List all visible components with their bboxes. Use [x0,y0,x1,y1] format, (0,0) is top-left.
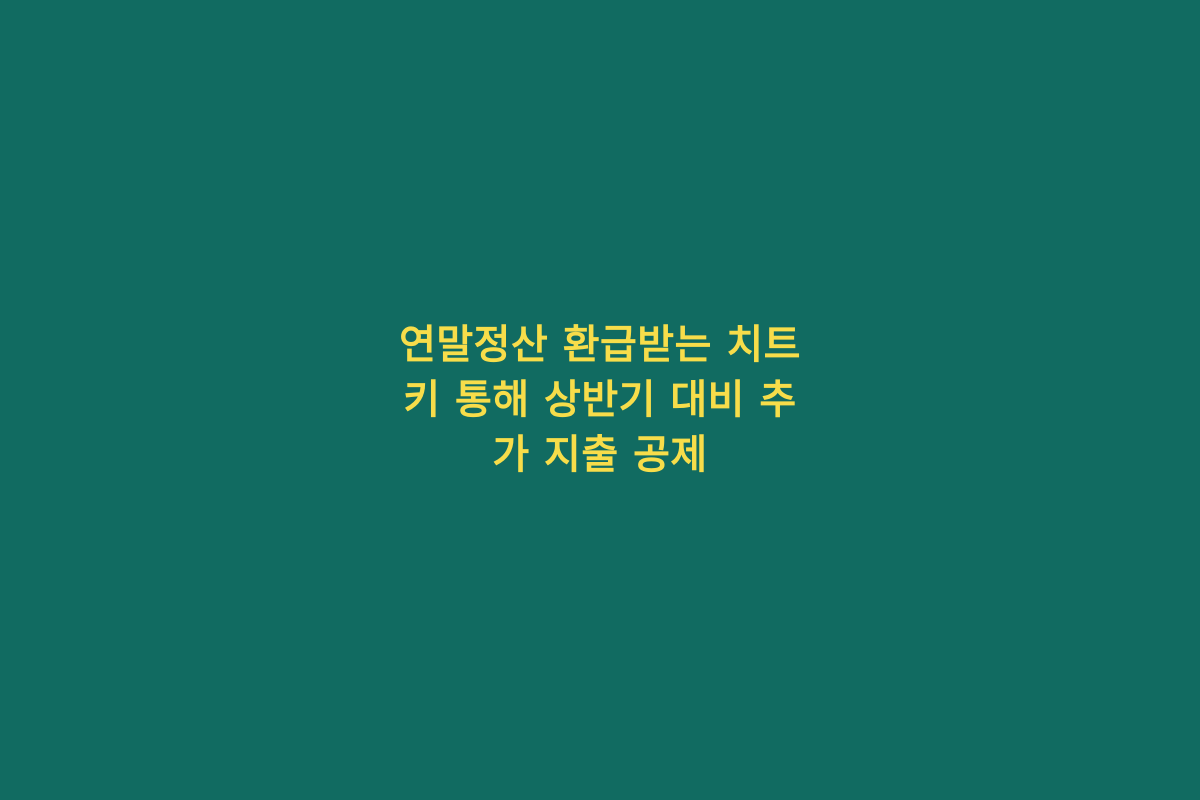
banner-headline: 연말정산 환급받는 치트 키 통해 상반기 대비 추 가 지출 공제 [80,318,1120,483]
headline-line-2: 키 통해 상반기 대비 추 [80,373,1120,428]
thumbnail-banner: 연말정산 환급받는 치트 키 통해 상반기 대비 추 가 지출 공제 [0,0,1200,800]
headline-line-3: 가 지출 공제 [80,428,1120,483]
headline-line-1: 연말정산 환급받는 치트 [80,318,1120,373]
